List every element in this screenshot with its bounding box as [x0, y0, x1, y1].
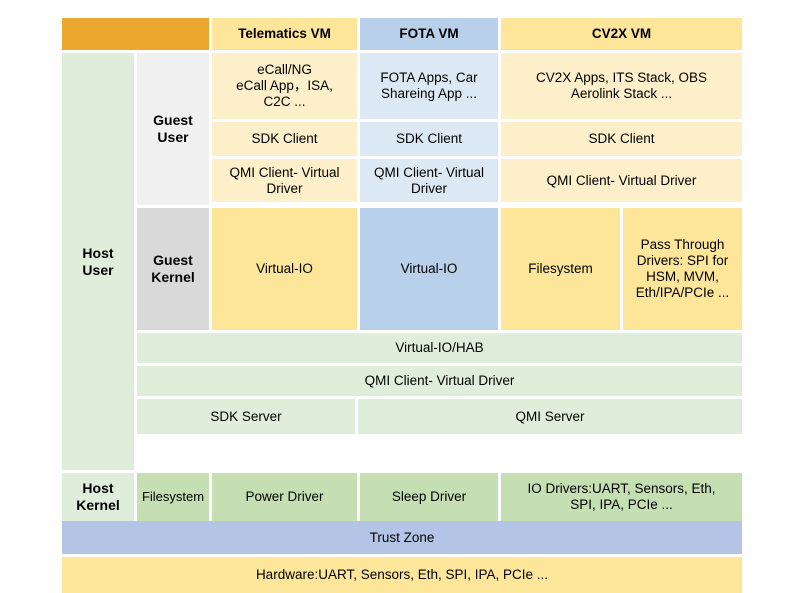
cell-host-kernel-sleep-driver[interactable]: Sleep Driver [360, 473, 498, 521]
host-user-section: Host User Guest User eCall/NG eCall App，… [62, 53, 742, 470]
host-user-label: Host User [62, 53, 134, 470]
server-row: SDK Server QMI Server [137, 399, 742, 434]
cell-cv2x-sdk-client[interactable]: SDK Client [501, 122, 742, 156]
qmi-client-virtual-driver-band: QMI Client- Virtual Driver [137, 366, 742, 396]
vm-header-telematics[interactable]: Telematics VM [212, 18, 357, 50]
cell-cv2x-qmi-client[interactable]: QMI Client- Virtual Driver [501, 159, 742, 202]
hardware-row: Hardware:UART, Sensors, Eth, SPI, IPA, P… [62, 557, 742, 593]
cell-telematics-virtual-io[interactable]: Virtual-IO [212, 208, 357, 330]
band-virtual-io-hab[interactable]: Virtual-IO/HAB [137, 333, 742, 363]
guest-kernel-cells: Virtual-IO Virtual-IO Filesystem Pass Th… [212, 208, 742, 330]
host-kernel-row: Host Kernel Filesystem Power Driver Slee… [62, 473, 742, 521]
guest-kernel-block: Guest Kernel Virtual-IO Virtual-IO Files… [137, 208, 742, 330]
host-user-content: Guest User eCall/NG eCall App，ISA, C2C .… [137, 53, 742, 470]
band-qmi-client-virtual-driver[interactable]: QMI Client- Virtual Driver [137, 366, 742, 396]
guest-kernel-label: Guest Kernel [137, 208, 209, 330]
cell-host-kernel-filesystem[interactable]: Filesystem [137, 473, 209, 521]
cell-cv2x-filesystem[interactable]: Filesystem [501, 208, 620, 330]
cell-telematics-apps[interactable]: eCall/NG eCall App，ISA, C2C ... [212, 53, 357, 119]
cell-qmi-server[interactable]: QMI Server [358, 399, 742, 434]
vm-header-fota[interactable]: FOTA VM [360, 18, 498, 50]
cell-fota-sdk-client[interactable]: SDK Client [360, 122, 498, 156]
guest-user-rows: eCall/NG eCall App，ISA, C2C ... FOTA App… [212, 53, 742, 205]
cell-telematics-sdk-client[interactable]: SDK Client [212, 122, 357, 156]
cell-fota-apps[interactable]: FOTA Apps, Car Shareing App ... [360, 53, 498, 119]
cell-cv2x-pass-through-drivers[interactable]: Pass Through Drivers: SPI for HSM, MVM, … [623, 208, 742, 330]
guest-user-apps-row: eCall/NG eCall App，ISA, C2C ... FOTA App… [212, 53, 742, 119]
vm-header-cv2x[interactable]: CV2X VM [501, 18, 742, 50]
architecture-diagram: Telematics VM FOTA VM CV2X VM Host User … [62, 18, 742, 546]
guest-user-sdk-row: SDK Client SDK Client SDK Client [212, 122, 742, 156]
host-kernel-label: Host Kernel [62, 473, 134, 521]
guest-user-qmi-row: QMI Client- Virtual Driver QMI Client- V… [212, 159, 742, 202]
virtual-io-hab-band: Virtual-IO/HAB [137, 333, 742, 363]
guest-user-label: Guest User [137, 53, 209, 205]
cell-cv2x-apps[interactable]: CV2X Apps, ITS Stack, OBS Aerolink Stack… [501, 53, 742, 119]
cell-fota-qmi-client[interactable]: QMI Client- Virtual Driver [360, 159, 498, 202]
cell-host-kernel-io-drivers[interactable]: IO Drivers:UART, Sensors, Eth, SPI, IPA,… [501, 473, 742, 521]
cv2x-kernel-split: Filesystem Pass Through Drivers: SPI for… [501, 208, 742, 330]
cell-sdk-server[interactable]: SDK Server [137, 399, 355, 434]
header-row: Telematics VM FOTA VM CV2X VM [62, 18, 742, 50]
header-corner-cell [62, 18, 209, 50]
band-hardware[interactable]: Hardware:UART, Sensors, Eth, SPI, IPA, P… [62, 557, 742, 593]
guest-user-block: Guest User eCall/NG eCall App，ISA, C2C .… [137, 53, 742, 205]
band-trust-zone[interactable]: Trust Zone [62, 521, 742, 554]
cell-host-kernel-power-driver[interactable]: Power Driver [212, 473, 357, 521]
cell-fota-virtual-io[interactable]: Virtual-IO [360, 208, 498, 330]
trust-zone-row: Trust Zone [62, 521, 742, 554]
cell-telematics-qmi-client[interactable]: QMI Client- Virtual Driver [212, 159, 357, 202]
